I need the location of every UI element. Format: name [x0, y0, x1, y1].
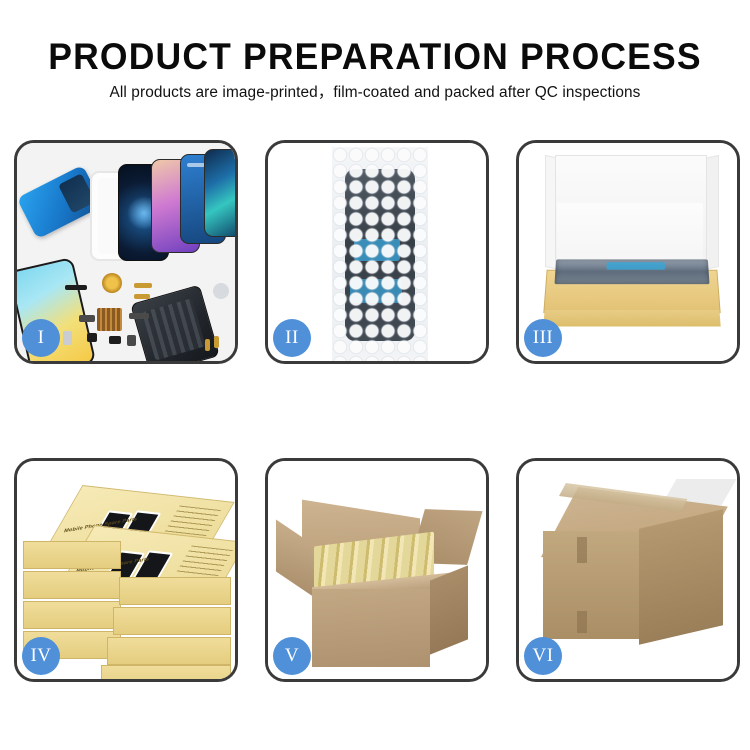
stacked-box-r3 [107, 637, 231, 665]
stacked-box-l1 [23, 541, 121, 569]
battery-connector-part [127, 335, 136, 346]
bubble-highlight-layer [332, 147, 428, 361]
step-badge-2: II [273, 319, 311, 357]
chip-array-part [97, 308, 122, 331]
process-step-4: Mobile Phone Spare Parts Mobile Phone Sp… [14, 458, 238, 682]
flex-cable-part-a [134, 283, 152, 288]
stacked-box-l3 [23, 601, 121, 629]
sealed-carton-front-panel [543, 531, 639, 639]
sealed-carton-right-panel [639, 509, 723, 644]
process-step-6: VI [516, 458, 740, 682]
carton-seam-upper [577, 537, 587, 563]
kraft-box-front [543, 310, 720, 327]
process-step-5: V [265, 458, 489, 682]
process-grid: I II [0, 0, 750, 750]
step-badge-3: III [524, 319, 562, 357]
step-badge-1: I [22, 319, 60, 357]
speaker-coil-part [102, 273, 122, 293]
small-bracket-part [79, 315, 95, 322]
process-step-1: I [14, 140, 238, 364]
stacked-box-r4 [101, 665, 231, 679]
carton-front-panel [312, 589, 430, 667]
flex-cable-part-b [134, 294, 150, 299]
stacked-box-r2 [113, 607, 231, 635]
stacked-box-l2 [23, 571, 121, 599]
box-print-spec-lines-a [165, 505, 221, 536]
earpiece-part [65, 285, 87, 290]
teal-wave-phone [204, 149, 235, 237]
flex-cable-part-c [129, 313, 149, 319]
bubble-wrap-package [332, 147, 428, 361]
process-step-2: II [265, 140, 489, 364]
stacked-box-r1 [119, 577, 231, 605]
vibrator-part [109, 336, 121, 344]
kraft-box-base [543, 270, 720, 313]
packed-screens [554, 259, 709, 284]
camera-module-part [87, 333, 97, 342]
infographic-page: PRODUCT PREPARATION PROCESS All products… [0, 0, 750, 750]
sim-tray-part [63, 331, 72, 345]
carton-side-panel [430, 565, 468, 654]
box-print-spec-lines-b [177, 545, 233, 576]
screw-part-b [214, 336, 219, 348]
tool-part [213, 283, 229, 299]
step-badge-4: IV [22, 637, 60, 675]
step-badge-5: V [273, 637, 311, 675]
carton-seam-lower [577, 611, 587, 633]
screw-part-a [205, 339, 210, 351]
process-step-3: III [516, 140, 740, 364]
step-badge-6: VI [524, 637, 562, 675]
